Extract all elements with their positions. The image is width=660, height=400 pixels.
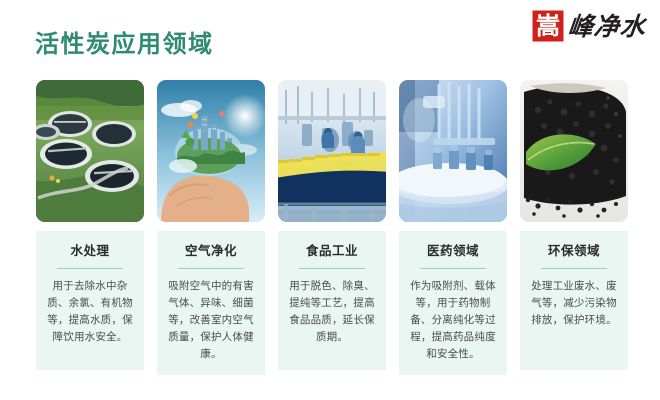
brand-wordmark: 峰净水 <box>567 14 648 39</box>
card-body: 医药领域 作为吸附剂、载体等，用于药物制备、分离纯化等过程，提高药品纯度和安全性… <box>399 231 507 375</box>
seal-icon: 嵩 <box>531 9 565 43</box>
application-cards: 水处理 用于去除水中杂质、余氯、有机物等，提高水质，保障饮用水安全。 <box>36 80 628 375</box>
card-body: 水处理 用于去除水中杂质、余氯、有机物等，提高水质，保障饮用水安全。 <box>36 231 144 370</box>
hand-holding-eco-city-globe-photo <box>157 80 265 222</box>
card-pharmaceutical[interactable]: 医药领域 作为吸附剂、载体等，用于药物制备、分离纯化等过程，提高药品纯度和安全性… <box>399 80 507 375</box>
card-title: 空气净化 <box>185 245 237 259</box>
card-description: 作为吸附剂、载体等，用于药物制备、分离纯化等过程，提高药品纯度和安全性。 <box>406 278 500 363</box>
divider <box>541 268 607 269</box>
divider <box>420 268 486 269</box>
card-description: 用于去除水中杂质、余氯、有机物等，提高水质，保障饮用水安全。 <box>43 278 137 346</box>
page-title: 活性炭应用领域 <box>35 33 214 57</box>
brand-logo: 嵩 峰净水 <box>531 6 646 46</box>
divider <box>178 268 244 269</box>
card-description: 用于脱色、除臭、提纯等工艺，提高食品品质，延长保质期。 <box>285 278 379 346</box>
card-title: 环保领域 <box>548 245 600 259</box>
beverage-bottling-line-photo <box>278 80 386 222</box>
card-description: 吸附空气中的有害气体、异味、细菌等，改善室内空气质量，保护人体健康。 <box>164 278 258 363</box>
card-title: 医药领域 <box>427 245 479 259</box>
card-food-industry[interactable]: 食品工业 用于脱色、除臭、提纯等工艺，提高食品品质，延长保质期。 <box>278 80 386 370</box>
card-environmental-protection[interactable]: 环保领域 处理工业废水、废气等，减少污染物排放，保护环境。 <box>520 80 628 370</box>
card-body: 空气净化 吸附空气中的有害气体、异味、细菌等，改善室内空气质量，保护人体健康。 <box>157 231 265 375</box>
card-title: 水处理 <box>70 245 109 259</box>
divider <box>57 268 123 269</box>
card-water-treatment[interactable]: 水处理 用于去除水中杂质、余氯、有机物等，提高水质，保障饮用水安全。 <box>36 80 144 370</box>
card-air-purification[interactable]: 空气净化 吸附空气中的有害气体、异味、细菌等，改善室内空气质量，保护人体健康。 <box>157 80 265 375</box>
pharmaceutical-vial-filling-line-photo <box>399 80 507 222</box>
card-body: 食品工业 用于脱色、除臭、提纯等工艺，提高食品品质，延长保质期。 <box>278 231 386 370</box>
card-body: 环保领域 处理工业废水、废气等，减少污染物排放，保护环境。 <box>520 231 628 370</box>
seal-char: 嵩 <box>536 14 560 38</box>
divider <box>299 268 365 269</box>
wastewater-treatment-plant-aerial-photo <box>36 80 144 222</box>
slide-root: 嵩 峰净水 活性炭应用领域 <box>0 0 660 400</box>
green-leaf-on-activated-carbon-photo <box>520 80 628 222</box>
card-title: 食品工业 <box>306 245 358 259</box>
card-description: 处理工业废水、废气等，减少污染物排放，保护环境。 <box>527 278 621 329</box>
